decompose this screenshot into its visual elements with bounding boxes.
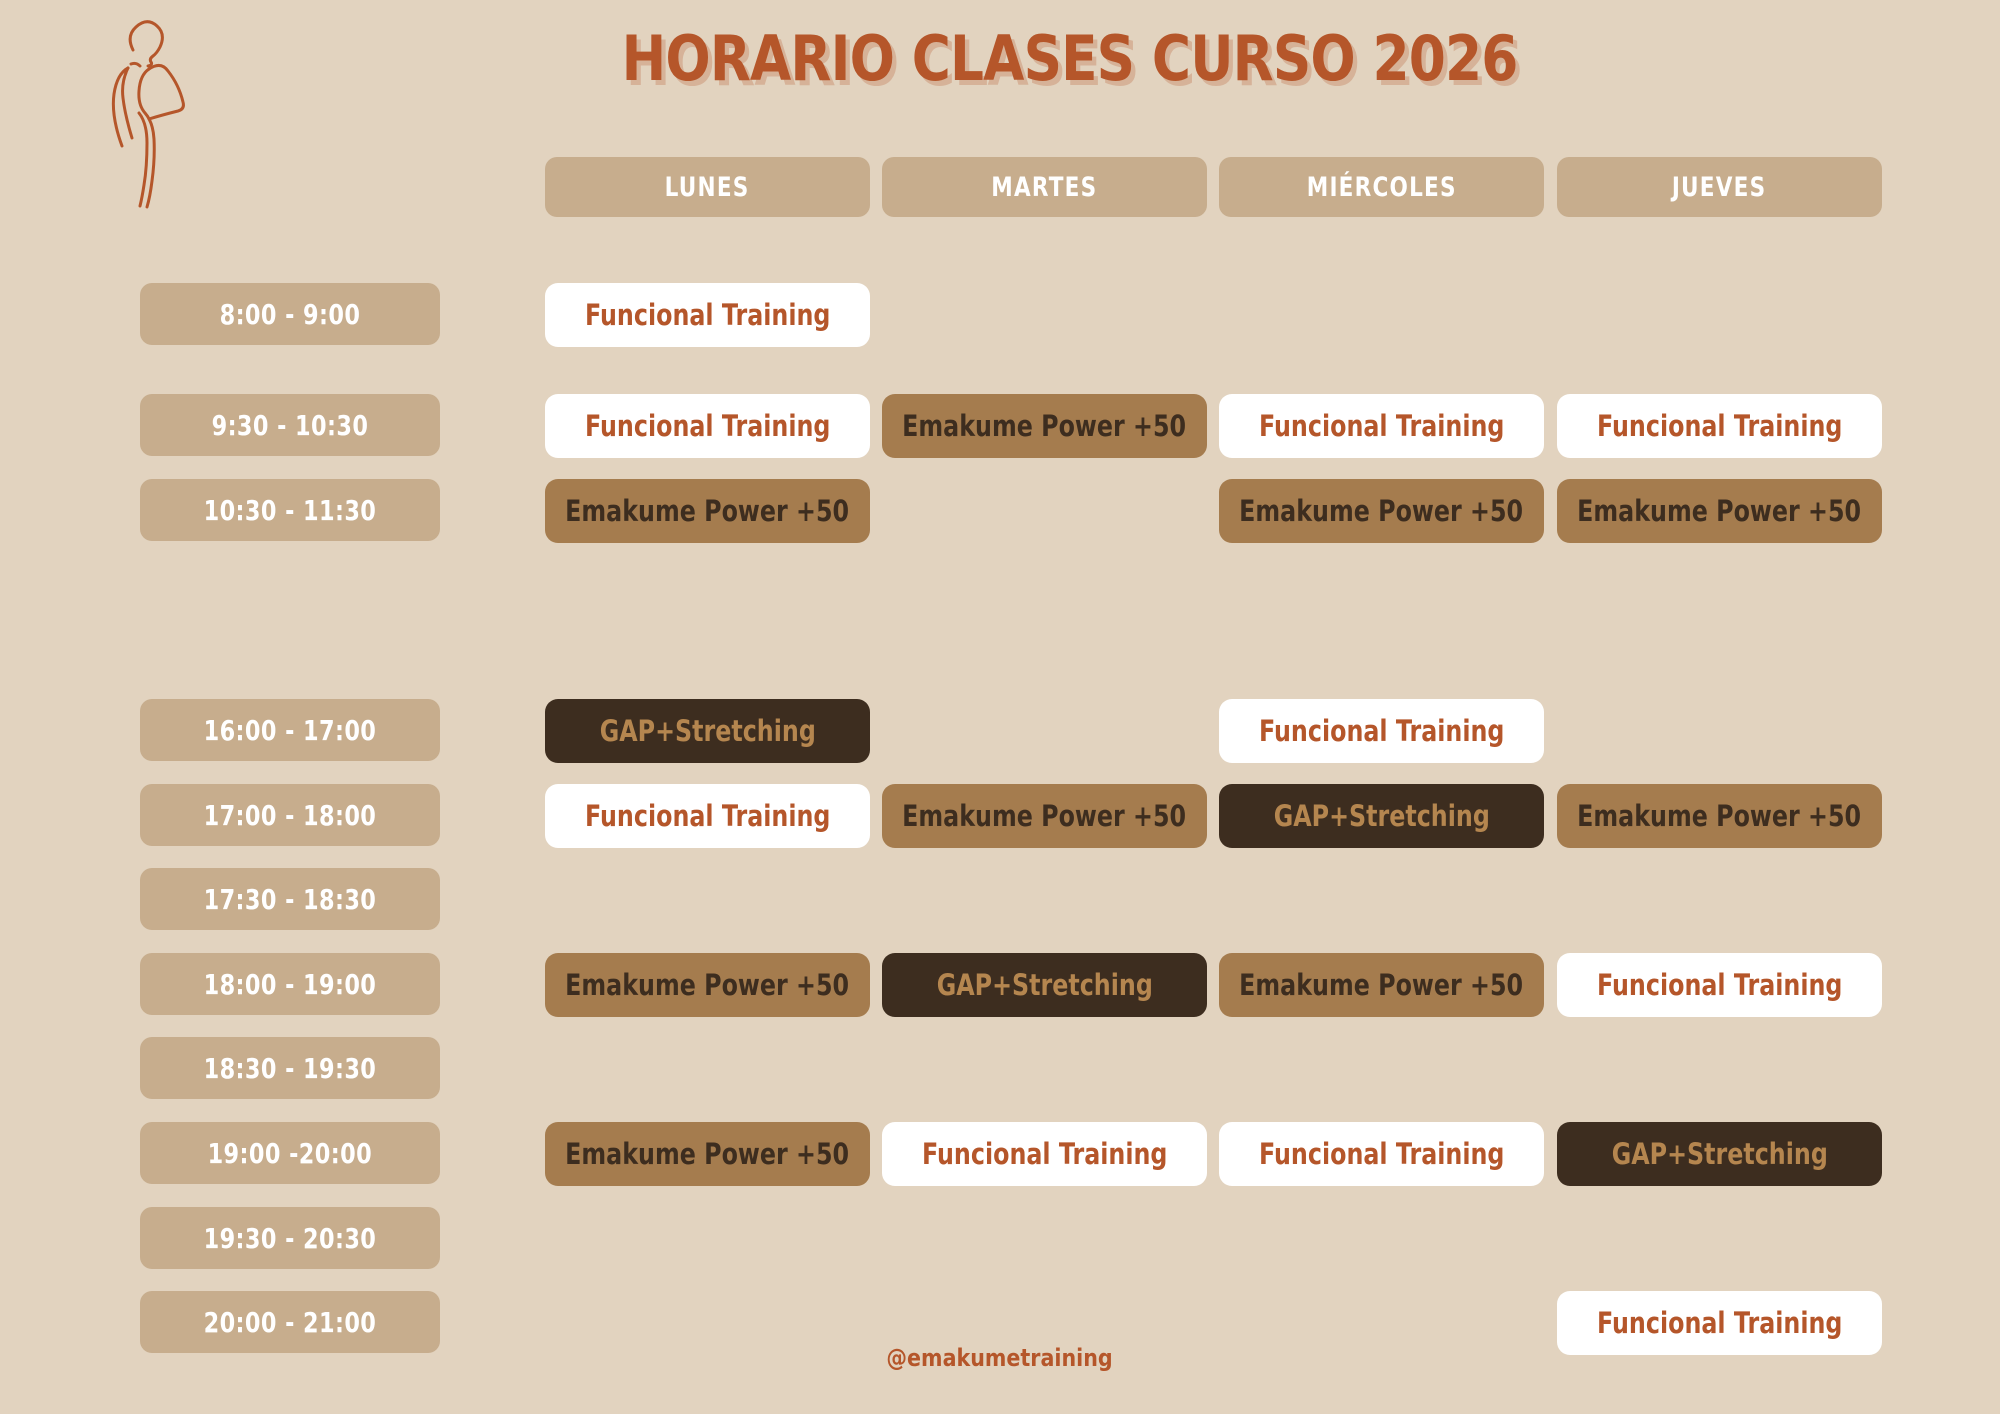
- class-card-emakume-lunes-t1030[interactable]: Emakume Power +50: [545, 479, 870, 543]
- class-card-gap-jueves-t1900[interactable]: GAP+Stretching: [1557, 1122, 1882, 1186]
- time-slot-label: 18:30 - 19:30: [204, 1052, 377, 1085]
- time-slot-t1030: 10:30 - 11:30: [140, 479, 440, 541]
- social-handle: @emakumetraining: [0, 1344, 2000, 1372]
- class-card-label: Emakume Power +50: [1578, 799, 1862, 833]
- time-slot-label: 18:00 - 19:00: [204, 968, 377, 1001]
- day-header-label: LUNES: [665, 172, 750, 203]
- day-header-lunes: LUNES: [545, 157, 870, 217]
- day-header-label: JUEVES: [1672, 172, 1767, 203]
- day-header-label: MARTES: [991, 172, 1097, 203]
- class-card-label: Emakume Power +50: [1240, 968, 1524, 1002]
- time-slot-t1830: 18:30 - 19:30: [140, 1037, 440, 1099]
- day-header-miercoles: MIÉRCOLES: [1219, 157, 1544, 217]
- class-card-label: Emakume Power +50: [1578, 494, 1862, 528]
- class-card-emakume-miercoles-t1800[interactable]: Emakume Power +50: [1219, 953, 1544, 1017]
- page-title: HORARIO CLASES CURSO 2026: [622, 26, 1379, 91]
- time-slot-t0930: 9:30 - 10:30: [140, 394, 440, 456]
- class-card-label: Funcional Training: [1259, 409, 1504, 443]
- time-slot-label: 9:30 - 10:30: [212, 409, 369, 442]
- class-card-label: Emakume Power +50: [903, 409, 1187, 443]
- class-card-label: Funcional Training: [1259, 714, 1504, 748]
- class-card-funcional-lunes-t1700[interactable]: Funcional Training: [545, 784, 870, 848]
- class-card-label: GAP+Stretching: [936, 968, 1152, 1002]
- class-card-label: Funcional Training: [1597, 1306, 1842, 1340]
- class-card-label: Funcional Training: [585, 298, 830, 332]
- class-card-label: Funcional Training: [922, 1137, 1167, 1171]
- class-card-funcional-miercoles-t0930[interactable]: Funcional Training: [1219, 394, 1544, 458]
- class-card-funcional-miercoles-t1600[interactable]: Funcional Training: [1219, 699, 1544, 763]
- time-slot-label: 17:00 - 18:00: [204, 799, 377, 832]
- class-card-label: Funcional Training: [1259, 1137, 1504, 1171]
- class-card-label: Funcional Training: [1597, 968, 1842, 1002]
- time-slot-t1600: 16:00 - 17:00: [140, 699, 440, 761]
- class-card-emakume-martes-t1700[interactable]: Emakume Power +50: [882, 784, 1207, 848]
- time-slot-t0800: 8:00 - 9:00: [140, 283, 440, 345]
- day-header-label: MIÉRCOLES: [1306, 172, 1456, 203]
- class-card-label: Funcional Training: [585, 799, 830, 833]
- class-card-label: Emakume Power +50: [566, 1137, 850, 1171]
- class-card-label: Emakume Power +50: [1240, 494, 1524, 528]
- class-card-funcional-jueves-t0930[interactable]: Funcional Training: [1557, 394, 1882, 458]
- class-card-emakume-jueves-t1030[interactable]: Emakume Power +50: [1557, 479, 1882, 543]
- day-header-jueves: JUEVES: [1557, 157, 1882, 217]
- class-card-label: Emakume Power +50: [903, 799, 1187, 833]
- time-slot-label: 20:00 - 21:00: [204, 1306, 377, 1339]
- class-card-label: GAP+Stretching: [599, 714, 815, 748]
- class-card-funcional-miercoles-t1900[interactable]: Funcional Training: [1219, 1122, 1544, 1186]
- time-slot-t1800: 18:00 - 19:00: [140, 953, 440, 1015]
- class-card-label: Funcional Training: [585, 409, 830, 443]
- time-slot-label: 8:00 - 9:00: [220, 298, 361, 331]
- class-card-emakume-lunes-t1800[interactable]: Emakume Power +50: [545, 953, 870, 1017]
- time-slot-t1900: 19:00 -20:00: [140, 1122, 440, 1184]
- time-slot-label: 19:00 -20:00: [208, 1137, 373, 1170]
- time-slot-label: 19:30 - 20:30: [204, 1222, 377, 1255]
- time-slot-label: 17:30 - 18:30: [204, 883, 377, 916]
- class-card-label: Emakume Power +50: [566, 494, 850, 528]
- class-card-emakume-martes-t0930[interactable]: Emakume Power +50: [882, 394, 1207, 458]
- class-card-funcional-lunes-t0930[interactable]: Funcional Training: [545, 394, 870, 458]
- class-card-label: GAP+Stretching: [1273, 799, 1489, 833]
- class-card-funcional-jueves-t1800[interactable]: Funcional Training: [1557, 953, 1882, 1017]
- time-slot-t1730: 17:30 - 18:30: [140, 868, 440, 930]
- class-card-gap-lunes-t1600[interactable]: GAP+Stretching: [545, 699, 870, 763]
- day-header-martes: MARTES: [882, 157, 1207, 217]
- class-card-label: GAP+Stretching: [1611, 1137, 1827, 1171]
- class-card-funcional-lunes-t0800[interactable]: Funcional Training: [545, 283, 870, 347]
- class-card-emakume-jueves-t1700[interactable]: Emakume Power +50: [1557, 784, 1882, 848]
- time-slot-label: 16:00 - 17:00: [204, 714, 377, 747]
- female-figure-logo-icon: [70, 12, 210, 212]
- class-card-funcional-martes-t1900[interactable]: Funcional Training: [882, 1122, 1207, 1186]
- time-slot-label: 10:30 - 11:30: [204, 494, 377, 527]
- class-card-gap-martes-t1800[interactable]: GAP+Stretching: [882, 953, 1207, 1017]
- class-card-emakume-miercoles-t1030[interactable]: Emakume Power +50: [1219, 479, 1544, 543]
- class-card-label: Funcional Training: [1597, 409, 1842, 443]
- time-slot-t1930: 19:30 - 20:30: [140, 1207, 440, 1269]
- class-card-gap-miercoles-t1700[interactable]: GAP+Stretching: [1219, 784, 1544, 848]
- class-card-emakume-lunes-t1900[interactable]: Emakume Power +50: [545, 1122, 870, 1186]
- time-slot-t1700: 17:00 - 18:00: [140, 784, 440, 846]
- schedule-poster: HORARIO CLASES CURSO 2026 LUNES MARTES M…: [0, 0, 2000, 1414]
- class-card-label: Emakume Power +50: [566, 968, 850, 1002]
